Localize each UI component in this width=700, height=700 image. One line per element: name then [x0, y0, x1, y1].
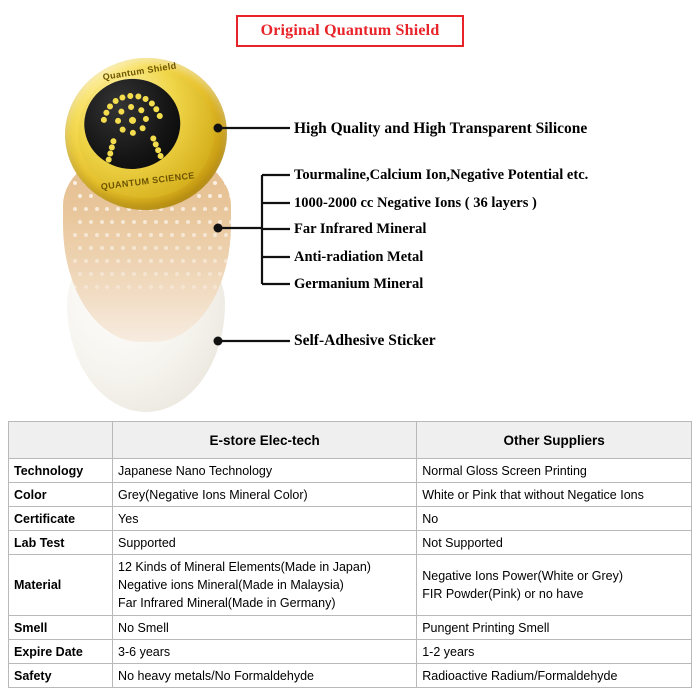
emblem-dot [115, 118, 121, 124]
callout-label-germanium: Germanium Mineral [294, 276, 423, 293]
ion-dot [78, 194, 82, 198]
ion-dot [84, 259, 88, 263]
table-row: Material12 Kinds of Mineral Elements(Mad… [9, 555, 692, 616]
ion-dot [95, 207, 99, 211]
ion-dot [218, 272, 222, 276]
cell-estore: Japanese Nano Technology [113, 459, 417, 483]
callout-label-silicone: High Quality and High Transparent Silico… [294, 120, 587, 138]
ion-dot [110, 272, 114, 276]
ion-dot [229, 272, 231, 276]
ion-dot [192, 285, 196, 289]
callout-label-anti-radiation: Anti-radiation Metal [294, 249, 423, 266]
table-row: Lab TestSupportedNot Supported [9, 531, 692, 555]
ion-dot [192, 259, 196, 263]
ion-dot [186, 220, 190, 224]
ion-dot [224, 155, 228, 159]
ion-dot [164, 246, 168, 250]
ion-dot [105, 285, 109, 289]
table-row: CertificateYesNo [9, 507, 692, 531]
ion-dot [73, 285, 77, 289]
ion-dot [218, 168, 222, 172]
ion-dot [203, 233, 207, 237]
cell-others: Normal Gloss Screen Printing [417, 459, 692, 483]
row-label: Material [9, 555, 113, 616]
ion-dot [110, 220, 114, 224]
ion-dot [143, 220, 147, 224]
emblem-dot [143, 116, 149, 122]
cell-estore: 3-6 years [113, 640, 417, 664]
ion-dot [218, 246, 222, 250]
ion-dot [186, 272, 190, 276]
ion-dot [208, 246, 212, 250]
cell-estore: Grey(Negative Ions Mineral Color) [113, 483, 417, 507]
emblem-dot [157, 153, 163, 159]
ion-dot [89, 246, 93, 250]
ion-dot [159, 259, 163, 263]
ion-dot [121, 272, 125, 276]
table-row: Expire Date3-6 years1-2 years [9, 640, 692, 664]
emblem-dot [120, 127, 126, 133]
table-row: ColorGrey(Negative Ions Mineral Color)Wh… [9, 483, 692, 507]
ion-dot [78, 246, 82, 250]
ion-dot [197, 272, 201, 276]
ion-dot [121, 220, 125, 224]
emblem-dot [107, 103, 113, 109]
emblem-dot [128, 116, 135, 123]
ion-dot [170, 285, 174, 289]
header-blank [9, 422, 113, 459]
cell-others: No [417, 507, 692, 531]
ion-dot [224, 285, 228, 289]
ion-dot [208, 220, 212, 224]
ion-dot [84, 207, 88, 211]
ion-dot [224, 207, 228, 211]
ion-dot [127, 259, 131, 263]
ion-dot [116, 259, 120, 263]
row-label: Safety [9, 664, 113, 688]
ion-dot [203, 285, 207, 289]
callout-label-far-infrared: Far Infrared Mineral [294, 221, 426, 238]
ion-dot [154, 220, 158, 224]
ion-dot [116, 207, 120, 211]
emblem-dot [153, 106, 159, 112]
cell-estore: No Smell [113, 616, 417, 640]
ion-dot [89, 220, 93, 224]
ion-dot [105, 207, 109, 211]
ion-dot [175, 220, 179, 224]
ion-dot [181, 207, 185, 211]
emblem-dot [135, 93, 141, 99]
row-label: Smell [9, 616, 113, 640]
ion-dot [73, 207, 77, 211]
emblem-dot [105, 156, 111, 162]
ion-dot [186, 246, 190, 250]
ion-dot [105, 233, 109, 237]
cell-others: Negative Ions Power(White or Grey)FIR Po… [417, 555, 692, 616]
ion-dot [208, 272, 212, 276]
ion-dot [170, 207, 174, 211]
ion-dot [197, 246, 201, 250]
cell-others: 1-2 years [417, 640, 692, 664]
ion-dot [213, 285, 217, 289]
ion-dot [95, 285, 99, 289]
ion-dot [229, 168, 231, 172]
ion-dot [73, 233, 77, 237]
page-title: Original Quantum Shield [261, 22, 440, 40]
row-label: Technology [9, 459, 113, 483]
ion-dot [224, 181, 228, 185]
ion-dot [78, 220, 82, 224]
ion-dot [181, 233, 185, 237]
row-label: Certificate [9, 507, 113, 531]
ion-dot [132, 246, 136, 250]
table-header-row: E-store Elec-tech Other Suppliers [9, 422, 692, 459]
ion-dot [192, 233, 196, 237]
ion-dot [143, 246, 147, 250]
ion-dot [73, 181, 77, 185]
ion-dot [78, 272, 82, 276]
ion-dot [175, 272, 179, 276]
ion-dot [132, 272, 136, 276]
ion-dot [149, 233, 153, 237]
emblem-dot [138, 107, 144, 113]
ion-dot [154, 246, 158, 250]
cell-others: White or Pink that without Negatice Ions [417, 483, 692, 507]
emblem-dot [127, 93, 133, 99]
ion-dot [197, 220, 201, 224]
ion-dot [181, 285, 185, 289]
ion-dot [208, 194, 212, 198]
ion-dot [127, 233, 131, 237]
ion-dot [138, 285, 142, 289]
ion-dot [138, 259, 142, 263]
ion-dot [110, 246, 114, 250]
ion-dot [138, 233, 142, 237]
ion-dot [159, 233, 163, 237]
cell-estore: 12 Kinds of Mineral Elements(Made in Jap… [113, 555, 417, 616]
ion-dot [100, 220, 104, 224]
emblem-dot [118, 108, 124, 114]
ion-dot [170, 259, 174, 263]
ion-dot [116, 285, 120, 289]
callout-label-tourmaline: Tourmaline,Calcium Ion,Negative Potentia… [294, 167, 588, 184]
row-label: Color [9, 483, 113, 507]
callout-label-negative-ions: 1000-2000 cc Negative Ions ( 36 layers ) [294, 195, 537, 212]
ion-dot [84, 233, 88, 237]
ion-dot [132, 220, 136, 224]
emblem-dot [119, 94, 125, 100]
ion-dot [213, 181, 217, 185]
ion-dot [218, 220, 222, 224]
row-label: Expire Date [9, 640, 113, 664]
ion-dot [170, 233, 174, 237]
table-row: SmellNo SmellPungent Printing Smell [9, 616, 692, 640]
ion-dot [197, 194, 201, 198]
emblem-dot [156, 113, 162, 119]
ion-dot [164, 272, 168, 276]
ion-dot [105, 259, 109, 263]
ion-dot [203, 207, 207, 211]
ion-dot [95, 259, 99, 263]
cell-others: Not Supported [417, 531, 692, 555]
cell-estore: Supported [113, 531, 417, 555]
ion-dot [218, 194, 222, 198]
ion-dot [95, 233, 99, 237]
emblem-dot [101, 117, 107, 123]
ion-dot [164, 220, 168, 224]
emblem-dot [128, 104, 134, 110]
table-row: SafetyNo heavy metals/No FormaldehydeRad… [9, 664, 692, 688]
ion-dot [143, 272, 147, 276]
ion-dot [154, 272, 158, 276]
ion-dot [116, 233, 120, 237]
ion-dot [100, 272, 104, 276]
emblem-dot [142, 96, 148, 102]
ion-dot [229, 220, 231, 224]
row-label: Lab Test [9, 531, 113, 555]
header-others: Other Suppliers [417, 422, 692, 459]
callout-label-sticker: Self-Adhesive Sticker [294, 332, 436, 350]
cell-estore: Yes [113, 507, 417, 531]
cell-estore: No heavy metals/No Formaldehyde [113, 664, 417, 688]
ion-dot [203, 259, 207, 263]
ion-dot [224, 233, 228, 237]
header-estore: E-store Elec-tech [113, 422, 417, 459]
page-title-badge: Original Quantum Shield [236, 15, 464, 47]
ion-dot [73, 259, 77, 263]
ion-dot [159, 285, 163, 289]
ion-dot [89, 272, 93, 276]
ion-dot [229, 246, 231, 250]
emblem-dot [130, 130, 136, 136]
cell-others: Radioactive Radium/Formaldehyde [417, 664, 692, 688]
emblem-dot [103, 109, 109, 115]
ion-dot [149, 259, 153, 263]
emblem-dot [112, 98, 118, 104]
cell-others: Pungent Printing Smell [417, 616, 692, 640]
ion-dot [213, 259, 217, 263]
comparison-table: E-store Elec-tech Other Suppliers Techno… [8, 421, 692, 688]
ion-dot [127, 285, 131, 289]
ion-dot [100, 246, 104, 250]
ion-dot [224, 259, 228, 263]
ion-dot [213, 207, 217, 211]
emblem-dot [139, 125, 145, 131]
ion-dot [213, 233, 217, 237]
ion-dot [192, 207, 196, 211]
product-illustration: Quantum Shield QUANTUM SCIENCE [55, 52, 265, 382]
ion-dot [229, 194, 231, 198]
ion-dot [181, 259, 185, 263]
ion-dot [89, 194, 93, 198]
ion-dot [121, 246, 125, 250]
ion-dot [84, 285, 88, 289]
ion-dot [175, 246, 179, 250]
ion-dot [149, 285, 153, 289]
table-row: TechnologyJapanese Nano TechnologyNormal… [9, 459, 692, 483]
